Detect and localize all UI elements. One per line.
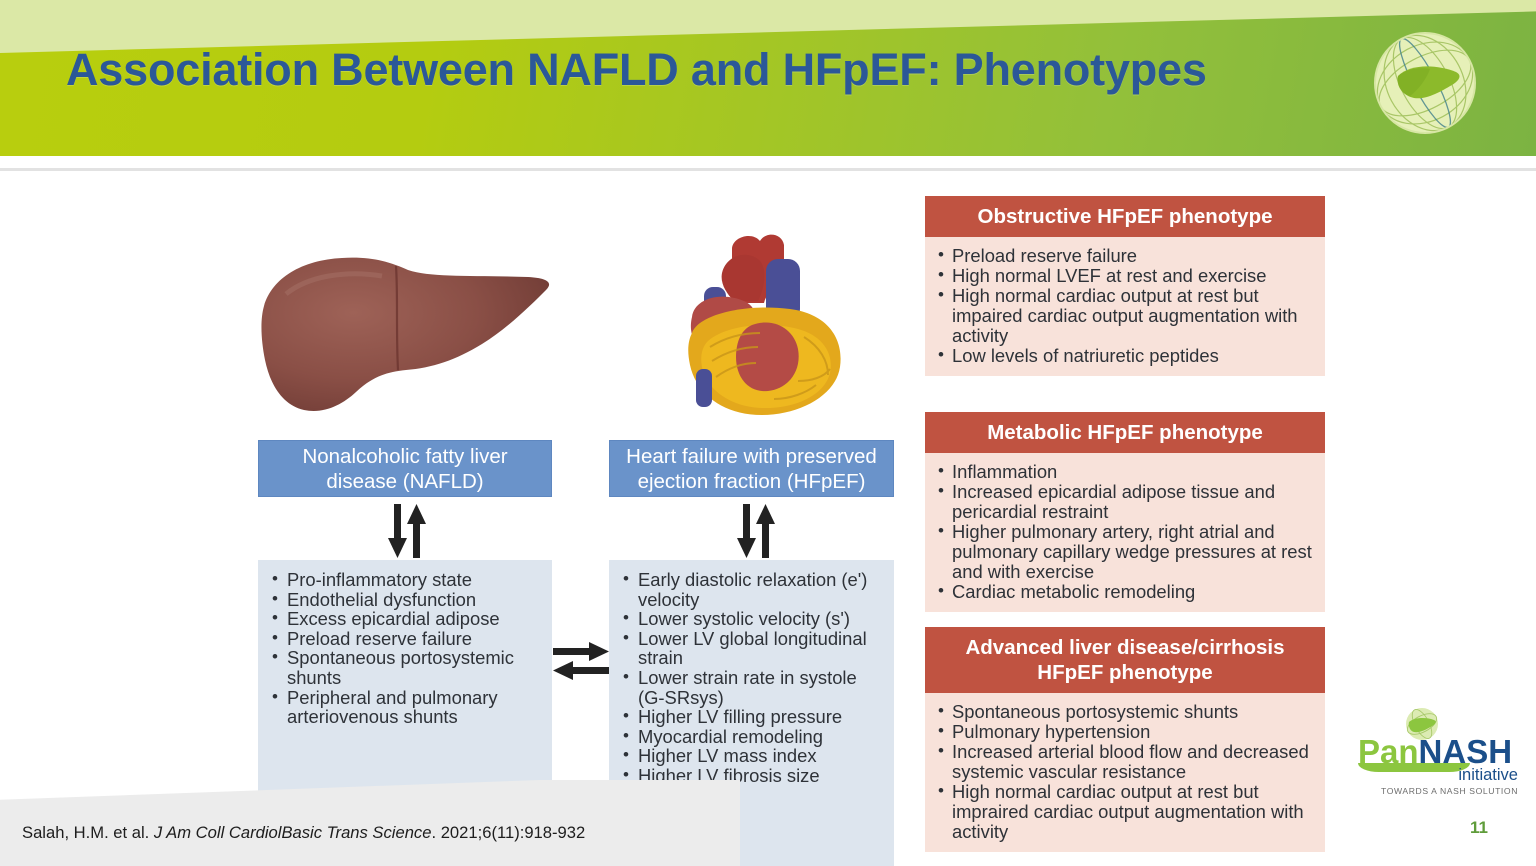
nafld-bidirectional-vertical-arrows — [385, 504, 429, 558]
list-item: Pro-inflammatory state — [272, 570, 540, 590]
phenotype-panel-metabolic: Metabolic HFpEF phenotype Inflammation I… — [925, 412, 1325, 612]
heart-illustration — [648, 229, 878, 424]
page-title: Association Between NAFLD and HFpEF: Phe… — [66, 44, 1336, 96]
list-item: Increased epicardial adipose tissue and … — [938, 482, 1313, 522]
list-item: High normal cardiac output at rest but i… — [938, 286, 1313, 346]
list-item: Endothelial dysfunction — [272, 590, 540, 610]
slide: Association Between NAFLD and HFpEF: Phe… — [0, 0, 1536, 866]
list-item: Low levels of natriuretic peptides — [938, 346, 1313, 366]
pannash-wordmark: PanNASH — [1358, 735, 1518, 768]
phenotype-body: Preload reserve failure High normal LVEF… — [925, 237, 1325, 376]
phenotype-title: Metabolic HFpEF phenotype — [925, 412, 1325, 453]
list-item: Higher LV mass index — [623, 746, 882, 766]
nafld-title-label: Nonalcoholic fatty liver disease (NAFLD) — [267, 444, 543, 494]
list-item: Higher LV filling pressure — [623, 707, 882, 727]
pannash-tagline: TOWARDS A NASH SOLUTION — [1358, 786, 1518, 796]
phenotype-bullet-list: Preload reserve failure High normal LVEF… — [938, 246, 1313, 366]
list-item: Peripheral and pulmonary arteriovenous s… — [272, 688, 540, 727]
citation-authors: Salah, H.M. et al. — [22, 823, 154, 842]
hfpef-bidirectional-vertical-arrows — [734, 504, 778, 558]
list-item: Early diastolic relaxation (e') velocity — [623, 570, 882, 609]
phenotype-body: Spontaneous portosystemic shunts Pulmona… — [925, 693, 1325, 852]
list-item: Cardiac metabolic remodeling — [938, 582, 1313, 602]
list-item: Lower LV global longitudinal strain — [623, 629, 882, 668]
list-item: Higher pulmonary artery, right atrial an… — [938, 522, 1313, 582]
nafld-title-box[interactable]: Nonalcoholic fatty liver disease (NAFLD) — [258, 440, 552, 497]
list-item: Spontaneous portosystemic shunts — [938, 702, 1313, 722]
list-item: Preload reserve failure — [938, 246, 1313, 266]
phenotype-panel-advanced-liver-disease: Advanced liver disease/cirrhosis HFpEF p… — [925, 627, 1325, 852]
pannash-globe-liver-logo — [1370, 28, 1480, 138]
hfpef-title-label: Heart failure with preserved ejection fr… — [618, 444, 885, 494]
citation: Salah, H.M. et al. J Am Coll CardiolBasi… — [22, 823, 585, 843]
list-item: Pulmonary hypertension — [938, 722, 1313, 742]
list-item: Increased arterial blood flow and decrea… — [938, 742, 1313, 782]
slide-number: 11 — [1470, 818, 1488, 838]
nafld-features-list: Pro-inflammatory state Endothelial dysfu… — [272, 570, 540, 727]
list-item: Myocardial remodeling — [623, 727, 882, 747]
phenotype-bullet-list: Spontaneous portosystemic shunts Pulmona… — [938, 702, 1313, 842]
phenotype-bullet-list: Inflammation Increased epicardial adipos… — [938, 462, 1313, 602]
list-item: Spontaneous portosystemic shunts — [272, 648, 540, 687]
list-item: High normal cardiac output at rest but i… — [938, 782, 1313, 842]
phenotype-title: Advanced liver disease/cirrhosis HFpEF p… — [925, 627, 1325, 693]
list-item: High normal LVEF at rest and exercise — [938, 266, 1313, 286]
list-item: Excess epicardial adipose — [272, 609, 540, 629]
pannash-pan-text: Pan — [1358, 733, 1419, 770]
citation-details: . 2021;6(11):918-932 — [431, 823, 585, 842]
list-item: Lower systolic velocity (s') — [623, 609, 882, 629]
pannash-initiative-text: initiative — [1358, 766, 1518, 785]
phenotype-title: Obstructive HFpEF phenotype — [925, 196, 1325, 237]
list-item: Preload reserve failure — [272, 629, 540, 649]
hfpef-features-list: Early diastolic relaxation (e') velocity… — [623, 570, 882, 786]
pannash-initiative-logo: PanNASH initiative TOWARDS A NASH SOLUTI… — [1358, 707, 1518, 799]
hfpef-title-box[interactable]: Heart failure with preserved ejection fr… — [609, 440, 894, 497]
list-item: Inflammation — [938, 462, 1313, 482]
pannash-nash-text: NASH — [1419, 733, 1513, 770]
list-item: Lower strain rate in systole (G-SRsys) — [623, 668, 882, 707]
bidirectional-arrow-icon — [553, 639, 609, 683]
citation-journal: J Am Coll CardiolBasic Trans Science — [154, 823, 432, 842]
phenotype-panel-obstructive: Obstructive HFpEF phenotype Preload rese… — [925, 196, 1325, 376]
liver-illustration — [246, 244, 576, 424]
slide-body: Nonalcoholic fatty liver disease (NAFLD)… — [0, 171, 1536, 819]
phenotype-body: Inflammation Increased epicardial adipos… — [925, 453, 1325, 612]
